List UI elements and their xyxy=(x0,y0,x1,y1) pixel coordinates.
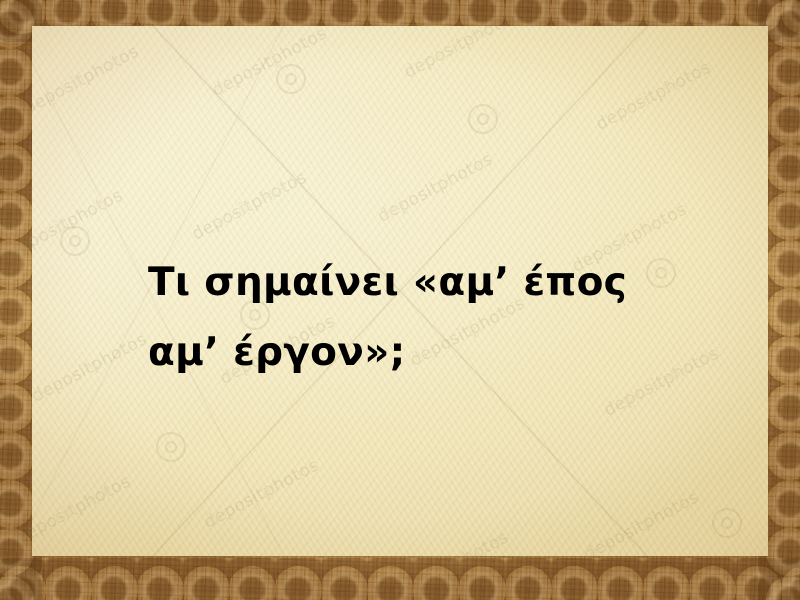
slide-text-block: Τι σημαίνει «αμ’ έπος αμ’ έργον»; xyxy=(148,248,668,388)
slide-canvas: depositphotosdepositphotosdepositphotosd… xyxy=(0,0,800,600)
slide-text-line-1: Τι σημαίνει «αμ’ έπος xyxy=(148,248,668,318)
frame-ornament-bottom xyxy=(0,558,800,600)
slide-text-line-2: αμ’ έργον»; xyxy=(148,318,668,388)
